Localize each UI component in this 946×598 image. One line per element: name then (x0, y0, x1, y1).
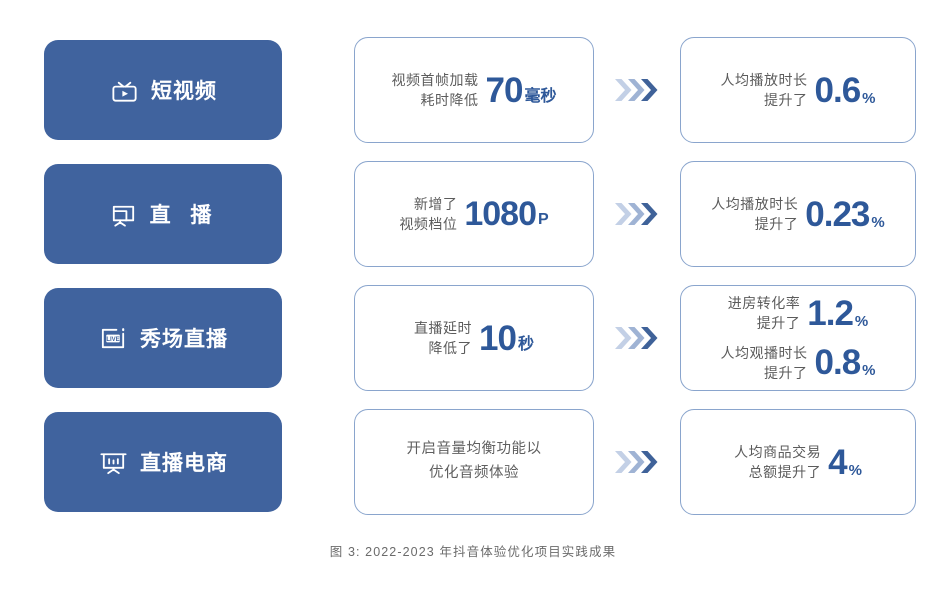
result-line1: 人均播放时长 (721, 70, 808, 90)
result-row: LIVE 秀场直播 直播延时 降低了 10 秒 (44, 288, 910, 388)
improvement-line1: 新增了 (399, 194, 457, 214)
result-line2: 提升了 (711, 214, 798, 234)
triple-chevron-right-icon (613, 448, 661, 476)
result-text: 进房转化率 提升了 (728, 293, 801, 334)
improvement-card[interactable]: 直播延时 降低了 10 秒 (354, 285, 594, 391)
result-card[interactable]: 人均播放时长 提升了 0.23 % (680, 161, 916, 267)
result-stat: 人均观播时长 提升了 0.8 % (721, 343, 876, 384)
result-card[interactable]: 人均商品交易 总额提升了 4 % (680, 409, 916, 515)
triple-chevron-right-icon (613, 76, 661, 104)
result-value: 0.6 % (815, 73, 876, 108)
category-card-live-ecommerce[interactable]: 直播电商 (44, 412, 282, 512)
improvement-stat: 视频首帧加载 耗时降低 70 毫秒 (392, 70, 557, 111)
result-value: 0.8 % (815, 345, 876, 380)
result-stat: 人均播放时长 提升了 0.23 % (711, 194, 884, 235)
result-line1: 进房转化率 (728, 293, 801, 313)
svg-text:LIVE: LIVE (106, 336, 119, 342)
arrow-container (594, 448, 680, 476)
result-number: 0.6 (815, 73, 861, 108)
category-label: 短视频 (151, 75, 217, 105)
arrow-container (594, 324, 680, 352)
result-text: 人均商品交易 总额提升了 (734, 442, 821, 483)
category-inner: 短视频 (109, 75, 217, 106)
result-stat: 人均商品交易 总额提升了 4 % (734, 442, 862, 483)
result-card[interactable]: 人均播放时长 提升了 0.6 % (680, 37, 916, 143)
improvement-number: 10 (479, 321, 516, 356)
result-stat-list: 人均播放时长 提升了 0.23 % (711, 194, 884, 235)
result-row: 直播电商 开启音量均衡功能以 优化音频体验 (44, 412, 910, 512)
result-row: 直 播 新增了 视频档位 1080 P (44, 164, 910, 264)
improvement-unit: 毫秒 (524, 82, 556, 108)
improvement-stat: 新增了 视频档位 1080 P (399, 194, 548, 235)
category-inner: 直播电商 (98, 447, 228, 478)
arrow-container (594, 200, 680, 228)
result-text: 人均播放时长 提升了 (721, 70, 808, 111)
result-row: 短视频 视频首帧加载 耗时降低 70 毫秒 (44, 40, 910, 140)
figure-container: 短视频 视频首帧加载 耗时降低 70 毫秒 (0, 0, 946, 598)
improvement-line1: 直播延时 (414, 318, 472, 338)
result-number: 4 (828, 445, 846, 480)
improvement-text: 直播延时 降低了 (414, 318, 472, 359)
result-line1: 人均商品交易 (734, 442, 821, 462)
category-inner: 直 播 (108, 199, 219, 230)
category-label: 秀场直播 (140, 323, 228, 353)
improvement-line2: 降低了 (414, 338, 472, 358)
result-text: 人均观播时长 提升了 (721, 343, 808, 384)
presentation-chart-icon (98, 447, 129, 478)
arrow-container (594, 76, 680, 104)
result-stat: 人均播放时长 提升了 0.6 % (721, 70, 876, 111)
improvement-card[interactable]: 新增了 视频档位 1080 P (354, 161, 594, 267)
improvement-number: 70 (486, 73, 523, 108)
result-unit: % (862, 90, 875, 108)
result-value: 0.23 % (805, 197, 884, 232)
monitor-stand-icon (108, 199, 139, 230)
improvement-line2: 耗时降低 (392, 90, 479, 110)
result-value: 4 % (828, 445, 862, 480)
result-card[interactable]: 进房转化率 提升了 1.2 % 人均观播时长 提升了 0.8 % (680, 285, 916, 391)
result-number: 0.23 (805, 197, 869, 232)
category-card-live[interactable]: 直 播 (44, 164, 282, 264)
improvement-unit: 秒 (518, 330, 534, 356)
category-card-short-video[interactable]: 短视频 (44, 40, 282, 140)
improvement-stat: 开启音量均衡功能以 优化音频体验 (407, 438, 542, 486)
improvement-text: 视频首帧加载 耗时降低 (392, 70, 479, 111)
improvement-card[interactable]: 开启音量均衡功能以 优化音频体验 (354, 409, 594, 515)
figure-caption: 图 3: 2022-2023 年抖音体验优化项目实践成果 (0, 541, 946, 560)
triple-chevron-right-icon (613, 200, 661, 228)
improvement-text: 开启音量均衡功能以 优化音频体验 (407, 438, 542, 486)
improvement-stat: 直播延时 降低了 10 秒 (414, 318, 534, 359)
result-line1: 人均播放时长 (711, 194, 798, 214)
improvement-line1: 开启音量均衡功能以 (407, 438, 542, 462)
result-unit: % (855, 313, 868, 331)
result-line2: 提升了 (721, 90, 808, 110)
improvement-card[interactable]: 视频首帧加载 耗时降低 70 毫秒 (354, 37, 594, 143)
tv-play-icon (109, 75, 140, 106)
result-value: 1.2 % (807, 296, 868, 331)
improvement-value: 1080 P (464, 197, 548, 231)
result-stat-list: 进房转化率 提升了 1.2 % 人均观播时长 提升了 0.8 % (721, 293, 876, 383)
result-number: 1.2 (807, 296, 853, 331)
improvement-line1: 视频首帧加载 (392, 70, 479, 90)
result-number: 0.8 (815, 345, 861, 380)
result-stat-list: 人均播放时长 提升了 0.6 % (721, 70, 876, 111)
triple-chevron-right-icon (613, 324, 661, 352)
result-unit: % (871, 214, 884, 232)
category-inner: LIVE 秀场直播 (98, 323, 228, 354)
improvement-text: 新增了 视频档位 (399, 194, 457, 235)
improvement-unit: P (538, 211, 549, 231)
live-badge-icon: LIVE (98, 323, 129, 354)
improvement-line2: 优化音频体验 (407, 462, 542, 486)
result-line2: 提升了 (721, 363, 808, 383)
category-label: 直 播 (150, 199, 219, 229)
result-line1: 人均观播时长 (721, 343, 808, 363)
result-unit: % (862, 362, 875, 380)
result-line2: 提升了 (728, 313, 801, 333)
improvement-number: 1080 (464, 197, 536, 231)
improvement-line2: 视频档位 (399, 214, 457, 234)
result-line2: 总额提升了 (734, 462, 821, 482)
result-stat: 进房转化率 提升了 1.2 % (721, 293, 876, 334)
result-unit: % (849, 462, 862, 480)
result-stat-list: 人均商品交易 总额提升了 4 % (734, 442, 862, 483)
improvement-value: 10 秒 (479, 321, 534, 356)
improvement-value: 70 毫秒 (486, 73, 557, 108)
result-text: 人均播放时长 提升了 (711, 194, 798, 235)
category-card-show-live[interactable]: LIVE 秀场直播 (44, 288, 282, 388)
category-label: 直播电商 (140, 447, 228, 477)
